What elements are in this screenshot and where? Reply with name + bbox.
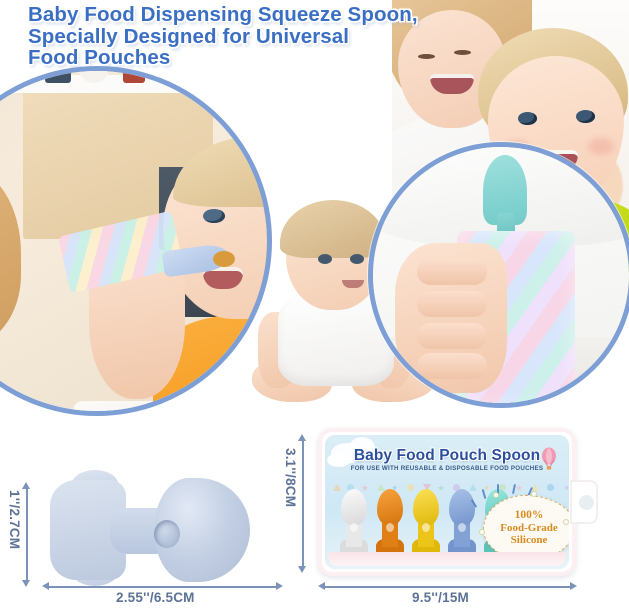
badge-line-2: Food-Grade: [500, 522, 557, 535]
baby-eye-left: [518, 112, 537, 125]
finger-2: [417, 291, 487, 317]
package-spoon-white: [339, 489, 369, 557]
hang-hole: [579, 495, 594, 510]
spoon-port: [386, 523, 394, 532]
headline-line-3: Food Pouches: [28, 47, 458, 69]
badge-line-3: Silicone: [511, 534, 548, 547]
baby-eye-right: [576, 110, 595, 123]
hot-air-balloon-icon: [541, 447, 557, 473]
finger-4: [417, 353, 487, 379]
spoon-bowl: [449, 489, 475, 525]
package-subtitle: FOR USE WITH REUSABLE & DISPOSABLE FOOD …: [325, 465, 569, 472]
spoon-bowl: [413, 489, 439, 525]
spoon-width-arrow-left: [42, 582, 49, 590]
baby-eye: [203, 209, 225, 223]
baby-eye-left: [318, 254, 332, 264]
spoon-bowl: [377, 489, 403, 525]
spoon-width-arrow-right: [276, 582, 283, 590]
spoon-valve-port: [154, 520, 180, 548]
baby-eye-right: [350, 254, 364, 264]
spoon-port: [350, 523, 358, 532]
photo-frame-feeding-scene: [0, 66, 272, 416]
package-height-arrow-bottom: [298, 566, 306, 573]
spoon-height-line: [26, 488, 28, 580]
package-width-label: 9.5''/15M: [412, 590, 469, 605]
package-height-line: [302, 440, 304, 566]
confetti-star: ★: [515, 483, 523, 494]
spoon-height-label: 1''/2.7CM: [7, 490, 22, 549]
package-height-arrow-top: [298, 434, 306, 441]
package-title: Baby Food Pouch Spoon: [325, 447, 569, 465]
headline-line-2: Specially Designed for Universal: [28, 26, 458, 48]
package-width-arrow-right: [570, 582, 577, 590]
badge-line-1: 100%: [515, 509, 544, 522]
kitchen-shelf: [11, 75, 217, 93]
spoon-port: [422, 523, 430, 532]
confetti-star: ✦: [563, 483, 569, 494]
page-title: Baby Food Dispensing Squeeze Spoon, Spec…: [28, 4, 458, 69]
spoon-height-arrow-bottom: [22, 580, 30, 587]
product-marketing-image: Baby Food Dispensing Squeeze Spoon, Spec…: [0, 0, 629, 614]
package-height-label: 3.1''/8CM: [283, 448, 298, 507]
spoon-width-label: 2.55''/6.5CM: [116, 590, 195, 605]
package-artwork: Baby Food Pouch Spoon FOR USE WITH REUSA…: [325, 435, 569, 569]
baby-food-puree: [213, 251, 235, 267]
hero-silicone-spoon: [44, 474, 244, 586]
package-spoon-yellow: [411, 489, 441, 557]
headline-line-1: Baby Food Dispensing Squeeze Spoon,: [28, 4, 458, 26]
spoon-width-line: [48, 586, 276, 588]
finger-3: [417, 323, 487, 349]
confetti-dot: [547, 484, 554, 491]
product-package: Baby Food Pouch Spoon FOR USE WITH REUSA…: [318, 428, 576, 576]
finger-1: [417, 259, 487, 285]
package-width-arrow-left: [318, 582, 325, 590]
spoon-bowl: [341, 489, 367, 525]
spoon-height-arrow-top: [22, 482, 30, 489]
package-hang-tab: [570, 480, 598, 524]
package-width-line: [324, 586, 570, 588]
spoon-port: [458, 523, 466, 532]
package-tray-strip: [328, 552, 566, 566]
package-spoon-orange: [375, 489, 405, 557]
photo-frame-hand-holding-pouch: [368, 142, 629, 408]
